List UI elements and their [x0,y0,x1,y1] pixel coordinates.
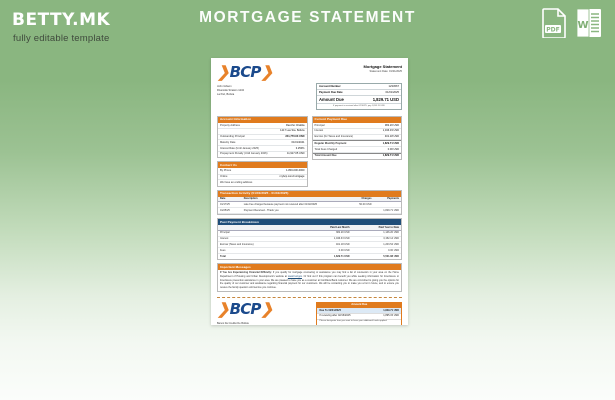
current-payment-due-section: Current Payment Due Principal382.20 USD … [312,116,403,161]
logo-wordmark: BCP [230,65,261,80]
coupon-amount-box: Amount Due Due To 02/01/2025 1,829.71 US… [316,302,402,325]
svg-text:W: W [577,20,588,31]
statement-title-block: Mortgage Statement Statement Date: 01/31… [364,64,402,74]
hud-link[interactable]: www.hud.gov [288,275,302,278]
logo-chevron-left-icon: ❯ [217,65,230,80]
payment-row-subtotal: Regular Monthly Payment1,829.71 USD [313,140,402,147]
logo-chevron-right-icon: ❯ [261,65,274,80]
important-messages-body: If You Are Experiencing Financial Diffic… [218,270,401,291]
transaction-activity-section: Transaction Activity (01/01/2025 - 01/31… [217,190,402,215]
svg-text:PDF: PDF [546,27,559,34]
important-messages-section: Important Messages If You Are Experienci… [217,263,402,292]
account-information-section: Account Information Property AddressRanc… [217,116,308,159]
bank-address: Banco De Credito De Bolivia Cra. Calle 1… [217,322,311,325]
amount-due-summary-box: Account Number 1234567 Payment Due Date … [316,83,402,110]
additional-principal-field: Additional Principal USD [317,324,401,325]
mortgage-statement-document[interactable]: ❯ BCP ❯ Mortgage Statement Statement Dat… [211,58,408,325]
info-columns: Account Information Property AddressRanc… [217,113,402,187]
transaction-activity-table: Date Description Charges Payments 01/17/… [218,197,401,214]
brand-tagline: fully editable template [13,33,110,44]
document-header: ❯ BCP ❯ Mortgage Statement Statement Dat… [217,64,402,80]
info-row: Prepayment Penalty (Until January 2026)1… [218,152,307,157]
address-line: Riverside Stration 1234 [217,89,244,93]
late-payment-note: If payment is received after 02/16/25, p… [317,103,401,108]
tear-off-divider [217,297,402,298]
contact-row: We have an ending address [218,180,307,185]
page-title: MORTGAGE STATEMENT [0,9,615,27]
past-payment-breakdown-table: Paid Last Month Paid Year to Date Princi… [218,225,401,259]
logo-chevron-left-icon: ❯ [217,302,230,317]
logo-wordmark: BCP [230,302,261,317]
messages-lead: If You Are Experiencing Financial Diffic… [220,271,272,274]
table-row: 01/25/25 Payment Received - Thank you 1,… [218,208,401,214]
payment-coupon: ❯ BCP ❯ Banco De Credito De Bolivia Cra.… [217,302,402,325]
statement-date: Statement Date: 01/31/2025 [364,70,402,74]
address-line: La Paz, Bolivia [217,93,244,97]
pdf-file-icon[interactable]: PDF [542,8,567,38]
word-file-icon[interactable]: W [576,8,601,38]
customer-address: John Gibson Riverside Stration 1234 La P… [217,85,244,96]
past-payment-breakdown-section: Past Payment Breakdown Paid Last Month P… [217,218,402,260]
contact-us-section: Contact Us By Phone1-800-000-0000 Online… [217,161,308,186]
file-format-icons: PDF W [542,8,601,38]
table-total-row: Total 1,829.71 USD 5,501.88 USD [218,254,401,259]
logo-chevron-right-icon: ❯ [261,302,274,317]
promo-header: BETTY.MK fully editable template MORTGAG… [0,0,615,58]
payment-row-total: Total Amount Due1,829.71 USD [313,153,402,159]
amount-due-row: Amount Due 1,829.71 USD [317,96,401,103]
bcp-logo: ❯ BCP ❯ [217,64,273,80]
bcp-logo-coupon: ❯ BCP ❯ [217,302,311,318]
